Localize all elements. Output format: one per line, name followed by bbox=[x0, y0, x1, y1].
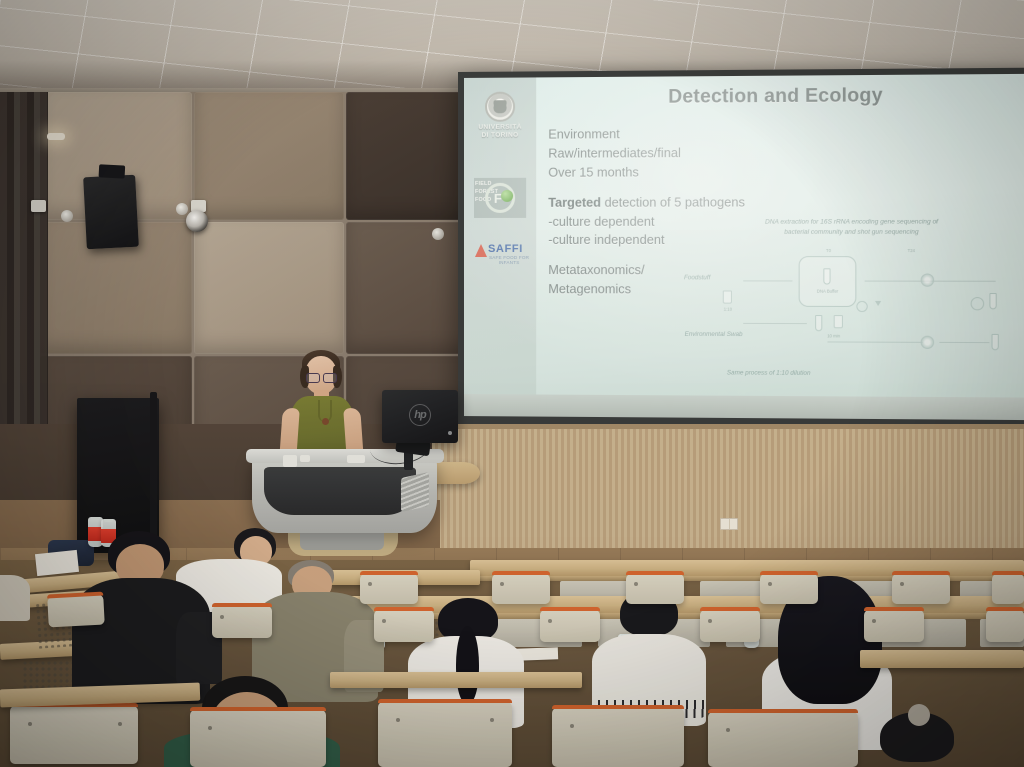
seat-back[interactable] bbox=[47, 595, 104, 628]
seat-rivet bbox=[28, 722, 32, 726]
seat-back[interactable] bbox=[708, 712, 858, 767]
diagram-bottle-icon bbox=[723, 290, 732, 303]
slide-line-targeted: Targeted detection of 5 pathogens bbox=[548, 193, 802, 213]
speaker-bracket-icon bbox=[99, 164, 126, 178]
seat-back[interactable] bbox=[378, 702, 512, 767]
diagram-tube-icon bbox=[823, 268, 830, 284]
slide-logo-rail: UNIVERSITÀ DI TORINO FIELD FOREST FOOD bbox=[464, 77, 536, 394]
logo-universita-di-torino: UNIVERSITÀ DI TORINO bbox=[470, 92, 530, 141]
slide-bold-lead: Targeted bbox=[548, 195, 601, 209]
logo-saffi: SAFFI SAFE FOOD FOR INFANTS bbox=[470, 238, 530, 264]
projection-screen-frame: UNIVERSITÀ DI TORINO FIELD FOREST FOOD bbox=[458, 68, 1024, 429]
ir-sensor-icon bbox=[176, 203, 188, 215]
slide-line: Raw/intermediates/final bbox=[548, 143, 802, 163]
diagram-caption: DNA extraction for 16S rRNA encoding gen… bbox=[764, 217, 940, 237]
slide-workflow-diagram: DNA extraction for 16S rRNA encoding gen… bbox=[684, 217, 1024, 391]
lecture-hall-scene: UNIVERSITÀ DI TORINO FIELD FOREST FOOD bbox=[0, 0, 1024, 767]
podium-mouse[interactable] bbox=[347, 455, 365, 463]
podium-monitor[interactable]: hp bbox=[382, 390, 458, 443]
seat-rivet bbox=[118, 722, 122, 726]
slide-title: Detection and Ecology bbox=[536, 84, 1018, 109]
saffi-wordmark: SAFFI bbox=[488, 243, 523, 255]
seat-back[interactable] bbox=[492, 574, 550, 604]
seat-rivet bbox=[382, 619, 386, 623]
f3-ring-icon: F³ bbox=[485, 183, 515, 213]
wall-speaker bbox=[83, 175, 139, 250]
wall-light bbox=[47, 133, 65, 140]
seat-rivet bbox=[490, 718, 494, 722]
seat-rivet bbox=[900, 582, 904, 586]
diagram-connector bbox=[939, 342, 989, 343]
diagram-connector bbox=[904, 281, 996, 282]
diagram-connector bbox=[865, 281, 904, 282]
diagram-timepoint-t24: T24 bbox=[896, 248, 927, 254]
projection-screen-surface[interactable]: UNIVERSITÀ DI TORINO FIELD FOREST FOOD bbox=[464, 74, 1024, 420]
diagram-circle-icon bbox=[971, 297, 985, 310]
podium-remote[interactable] bbox=[300, 455, 310, 462]
diagram-node-text: 10 min bbox=[805, 333, 863, 339]
seat-back[interactable] bbox=[374, 610, 434, 642]
attendee-far-left-torso bbox=[0, 575, 30, 621]
slide-line: Over 15 months bbox=[548, 163, 802, 183]
diagram-arrow-icon bbox=[875, 301, 881, 306]
desk-row bbox=[330, 672, 582, 688]
seat-rivet bbox=[872, 619, 876, 623]
hp-logo-icon: hp bbox=[409, 404, 431, 426]
seat-back[interactable] bbox=[552, 708, 684, 767]
seat-rivet bbox=[220, 615, 224, 619]
seat-back[interactable] bbox=[892, 574, 950, 604]
saffi-logo-icon: SAFFI SAFE FOOD FOR INFANTS bbox=[470, 242, 530, 264]
seat-back[interactable] bbox=[360, 574, 418, 604]
saffi-triangle-icon bbox=[475, 244, 487, 257]
f3-mark: F³ bbox=[494, 191, 506, 204]
attendee-ponytail-tail bbox=[456, 626, 479, 704]
seat-rivet bbox=[708, 619, 712, 623]
seat-rivet bbox=[368, 582, 372, 586]
monitor-power-led bbox=[448, 431, 452, 435]
wall-sensor-icon bbox=[432, 228, 444, 240]
glasses-icon bbox=[306, 373, 337, 381]
diagram-node-text: DNA Buffer bbox=[801, 289, 855, 295]
wall-outlet[interactable] bbox=[720, 518, 738, 530]
seat-back[interactable] bbox=[212, 606, 272, 638]
podium-vent-grille bbox=[401, 472, 429, 512]
seat-back[interactable] bbox=[864, 610, 924, 642]
diagram-connector bbox=[743, 280, 792, 281]
presentation-slide: UNIVERSITÀ DI TORINO FIELD FOREST FOOD bbox=[464, 74, 1024, 398]
seat-rivet bbox=[768, 582, 772, 586]
hair-clip-icon bbox=[908, 704, 930, 726]
diagram-label-dilution: Same process of 1:10 dilution bbox=[727, 369, 811, 377]
camera-dome-icon bbox=[186, 210, 208, 232]
diagram-circle-icon bbox=[856, 301, 867, 312]
slide-line: Environment bbox=[548, 124, 802, 144]
seat-rivet bbox=[634, 582, 638, 586]
diagram-label-foodstuff: Foodstuff bbox=[684, 274, 710, 281]
diagram-node-text: 1:10 bbox=[704, 307, 751, 313]
diagram-petri-icon bbox=[921, 273, 935, 286]
screen-bottom-band bbox=[464, 394, 1024, 420]
seat-back[interactable] bbox=[540, 610, 600, 642]
desk-row bbox=[860, 650, 1024, 668]
sensor-icon bbox=[61, 210, 73, 222]
diagram-timepoint-t0: T0 bbox=[813, 248, 844, 254]
diagram-tube-icon bbox=[989, 293, 996, 309]
seat-back[interactable] bbox=[10, 706, 138, 764]
seat-back[interactable] bbox=[986, 610, 1024, 642]
saffi-subtext: SAFE FOOD FOR INFANTS bbox=[488, 255, 530, 265]
diagram-tube-icon bbox=[815, 315, 822, 331]
unito-line-2: DI TORINO bbox=[470, 132, 530, 140]
logo-field-forest-food: FIELD FOREST FOOD F³ bbox=[470, 178, 530, 218]
seat-back[interactable] bbox=[760, 574, 818, 604]
seat-rivet bbox=[208, 726, 212, 730]
diagram-tube-icon bbox=[991, 334, 998, 350]
seat-rivet bbox=[396, 718, 400, 722]
diagram-connector bbox=[827, 341, 922, 342]
diagram-connector bbox=[743, 323, 807, 324]
wall-panel bbox=[194, 92, 344, 220]
f3-badge-icon: FIELD FOREST FOOD F³ bbox=[474, 178, 526, 218]
diagram-bottle-icon bbox=[834, 315, 843, 328]
seat-rivet bbox=[548, 619, 552, 623]
seat-rivet bbox=[500, 582, 504, 586]
seat-back[interactable] bbox=[626, 574, 684, 604]
diagram-label-swab: Environmental Swab bbox=[684, 331, 743, 338]
podium-device[interactable] bbox=[283, 455, 297, 467]
diagram-petri-icon bbox=[921, 336, 935, 349]
podium-front-face bbox=[264, 467, 416, 515]
wall-panel bbox=[194, 222, 344, 354]
seat-back[interactable] bbox=[190, 710, 326, 767]
slide-lead-rest: detection of 5 pathogens bbox=[601, 195, 745, 209]
papers bbox=[35, 550, 79, 576]
microphone-icon bbox=[322, 418, 329, 425]
unito-crest-icon bbox=[485, 92, 515, 122]
seat-back[interactable] bbox=[992, 574, 1024, 604]
camera-icon bbox=[31, 200, 46, 212]
seat-rivet bbox=[570, 724, 574, 728]
slide-block-environment: Environment Raw/intermediates/final Over… bbox=[548, 124, 802, 182]
seat-rivet bbox=[726, 728, 730, 732]
seat-back[interactable] bbox=[700, 610, 760, 642]
